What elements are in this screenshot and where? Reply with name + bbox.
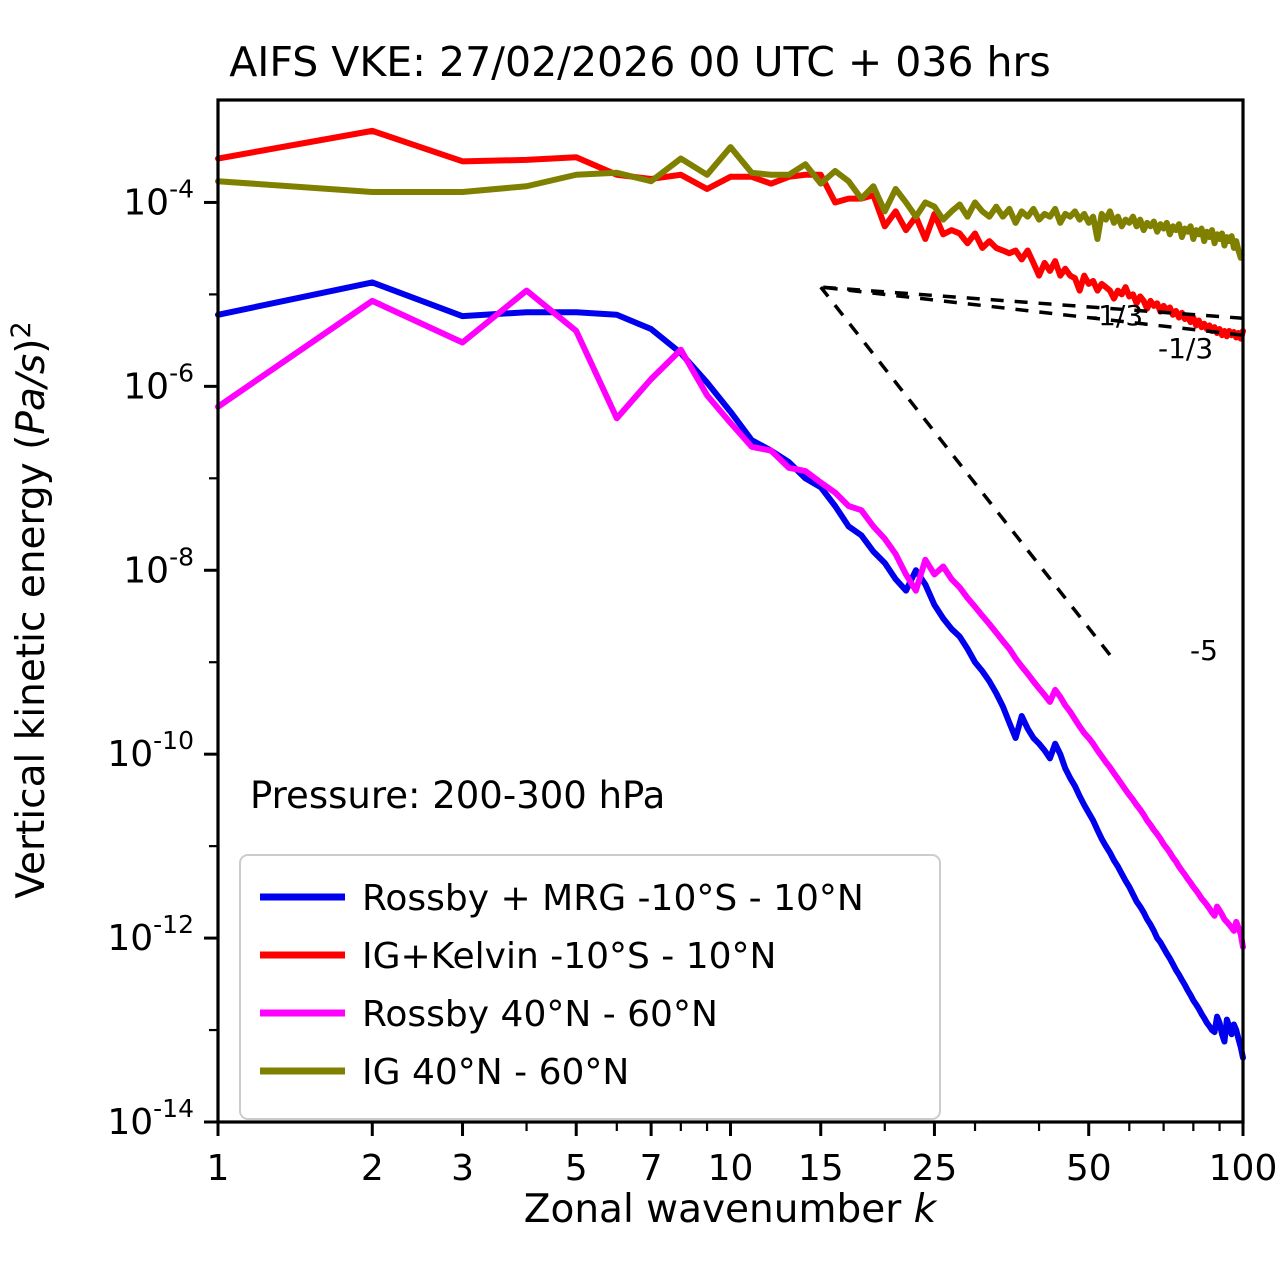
x-axis-label-text: Zonal wavenumber bbox=[524, 1187, 914, 1232]
y-tick-label: 10-4 bbox=[123, 174, 194, 223]
y-axis-label-sup: 2 bbox=[6, 321, 37, 338]
x-tick-label: 25 bbox=[912, 1148, 958, 1189]
x-tick-label: 100 bbox=[1209, 1148, 1278, 1189]
y-axis-label-close: ) bbox=[9, 339, 54, 354]
y-tick-label: 10-14 bbox=[107, 1094, 194, 1143]
chart-plot-area: 1235710152550100 10-410-610-810-1010-121… bbox=[0, 0, 1280, 1288]
data-series-3 bbox=[218, 147, 1241, 258]
x-tick-label: 5 bbox=[565, 1148, 588, 1189]
pressure-annotation: Pressure: 200-300 hPa bbox=[250, 774, 665, 817]
legend-label-2: Rossby 40°N - 60°N bbox=[362, 994, 718, 1035]
x-axis-ticks: 1235710152550100 bbox=[207, 1122, 1278, 1189]
legend-label-0: Rossby + MRG -10°S - 10°N bbox=[362, 878, 864, 919]
legend-label-1: IG+Kelvin -10°S - 10°N bbox=[362, 936, 776, 977]
x-tick-label: 15 bbox=[798, 1148, 844, 1189]
x-tick-label: 10 bbox=[708, 1148, 754, 1189]
x-tick-label: 7 bbox=[640, 1148, 663, 1189]
y-axis-ticks: 10-410-610-810-1010-1210-14 bbox=[107, 174, 218, 1143]
x-tick-label: 3 bbox=[451, 1148, 474, 1189]
x-tick-label: 2 bbox=[361, 1148, 384, 1189]
figure-canvas: AIFS VKE: 27/02/2026 00 UTC + 036 hrs 12… bbox=[0, 0, 1280, 1288]
y-tick-label: 10-6 bbox=[123, 358, 194, 407]
x-tick-label: 50 bbox=[1066, 1148, 1112, 1189]
y-axis-label-italic: Pa/s bbox=[9, 354, 54, 435]
slope-label-lower: -5 bbox=[1190, 634, 1218, 667]
slope-label-middle: -1/3 bbox=[1158, 332, 1213, 365]
x-axis-label-symbol: k bbox=[914, 1187, 938, 1232]
y-tick-label: 10-12 bbox=[107, 910, 194, 959]
data-series-2 bbox=[218, 291, 1243, 947]
x-tick-label: 1 bbox=[207, 1148, 230, 1189]
y-axis-label: Vertical kinetic energy (Pa/s)2 bbox=[6, 321, 54, 898]
x-axis-label: Zonal wavenumber k bbox=[524, 1187, 938, 1232]
legend-label-3: IG 40°N - 60°N bbox=[362, 1052, 629, 1093]
y-tick-label: 10-10 bbox=[107, 726, 194, 775]
y-tick-label: 10-8 bbox=[123, 542, 194, 591]
slope-label-upper: -1/3 bbox=[1088, 299, 1143, 332]
y-axis-label-text: Vertical kinetic energy ( bbox=[9, 435, 54, 899]
chart-legend[interactable]: Rossby + MRG -10°S - 10°NIG+Kelvin -10°S… bbox=[240, 855, 940, 1119]
